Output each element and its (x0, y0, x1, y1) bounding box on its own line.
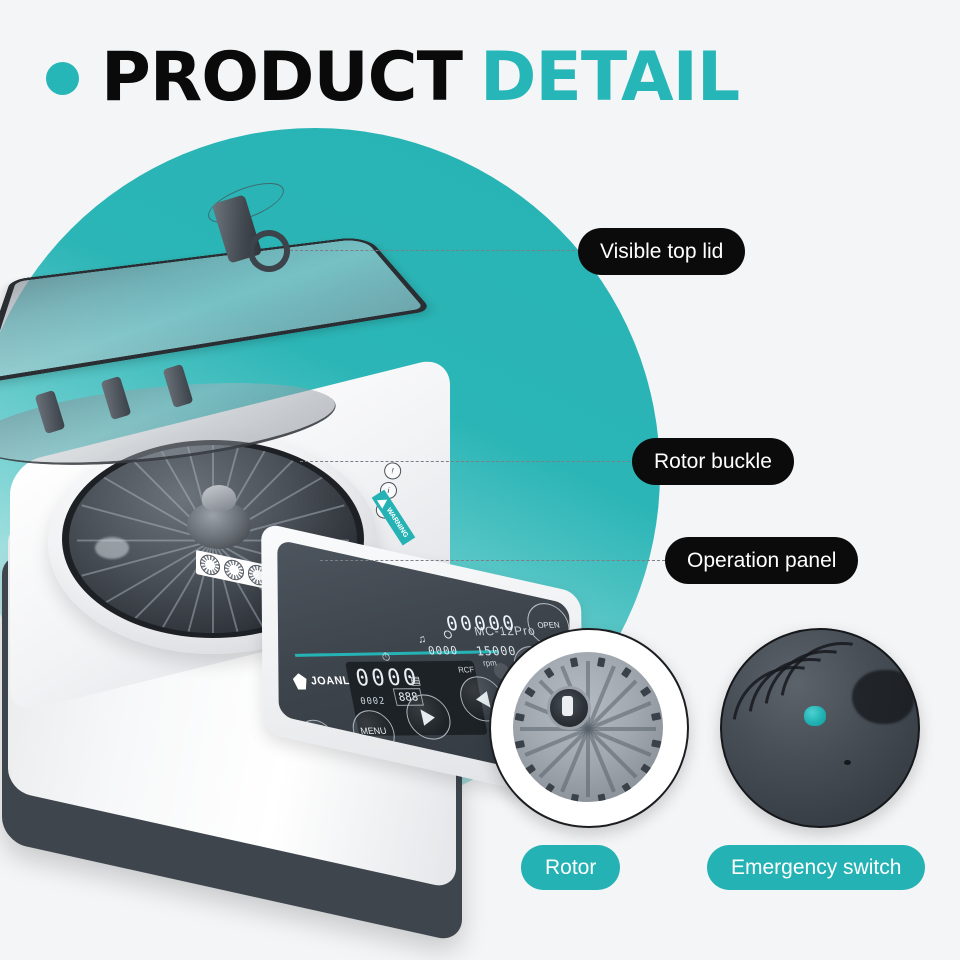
brand-mark-icon (292, 673, 309, 690)
rotor-zoom-inset (489, 628, 689, 828)
panel-accent-line (295, 650, 499, 657)
callout-rotor-label: Rotor (545, 856, 596, 879)
triangle-down-icon (474, 691, 490, 708)
callout-operation-panel-label: Operation panel (687, 549, 836, 572)
rotor-disc (513, 652, 663, 802)
leader-line-rotor-buckle (300, 461, 630, 462)
callout-emergency-switch[interactable]: Emergency switch (707, 845, 925, 890)
title-word-primary: PRODUCT (101, 38, 462, 117)
leader-line-lid (290, 250, 590, 251)
chamber-highlight (95, 537, 129, 559)
lcd-rcf-label: RCF (457, 665, 475, 674)
callout-rotor-buckle[interactable]: Rotor buckle (632, 438, 794, 485)
rotor-diagram-icon-2 (224, 558, 244, 582)
leader-line-operation-panel (320, 560, 665, 561)
emergency-switch-zoom-inset (720, 628, 920, 828)
callout-rotor[interactable]: Rotor (521, 845, 620, 890)
callout-visible-top-lid-label: Visible top lid (600, 240, 723, 263)
lcd-rcf-value: 0000 (427, 644, 460, 658)
rotor-center-hub (547, 686, 591, 730)
lcd-max-speed-value: 15000 (475, 644, 518, 659)
transparent-lid (0, 130, 482, 460)
product-detail-infographic: PRODUCTDETAIL ! i (0, 0, 960, 960)
rotor-buckle-knob (202, 485, 236, 511)
callout-visible-top-lid[interactable]: Visible top lid (578, 228, 745, 275)
triangle-up-icon (420, 709, 436, 726)
warning-triangle-icon (377, 495, 390, 508)
open-button-label: OPEN (536, 620, 560, 629)
callout-rotor-buckle-label: Rotor buckle (654, 450, 772, 473)
rotor-diagram-icon-1 (200, 553, 220, 577)
caution-icon: ! (383, 461, 403, 481)
callout-emergency-switch-label: Emergency switch (731, 856, 901, 879)
page-title: PRODUCTDETAIL (46, 44, 739, 112)
pin-hole-icon (844, 760, 851, 765)
rotor-speed-icon: ♫ (417, 633, 428, 645)
lcd-speed-value: 00000 (444, 612, 519, 635)
emergency-release-knob[interactable] (804, 706, 826, 726)
callout-operation-panel[interactable]: Operation panel (665, 537, 858, 584)
page-title-text: PRODUCTDETAIL (101, 44, 739, 112)
dot-icon (46, 62, 79, 95)
title-word-accent: DETAIL (480, 38, 739, 117)
lid-plate (0, 236, 432, 385)
